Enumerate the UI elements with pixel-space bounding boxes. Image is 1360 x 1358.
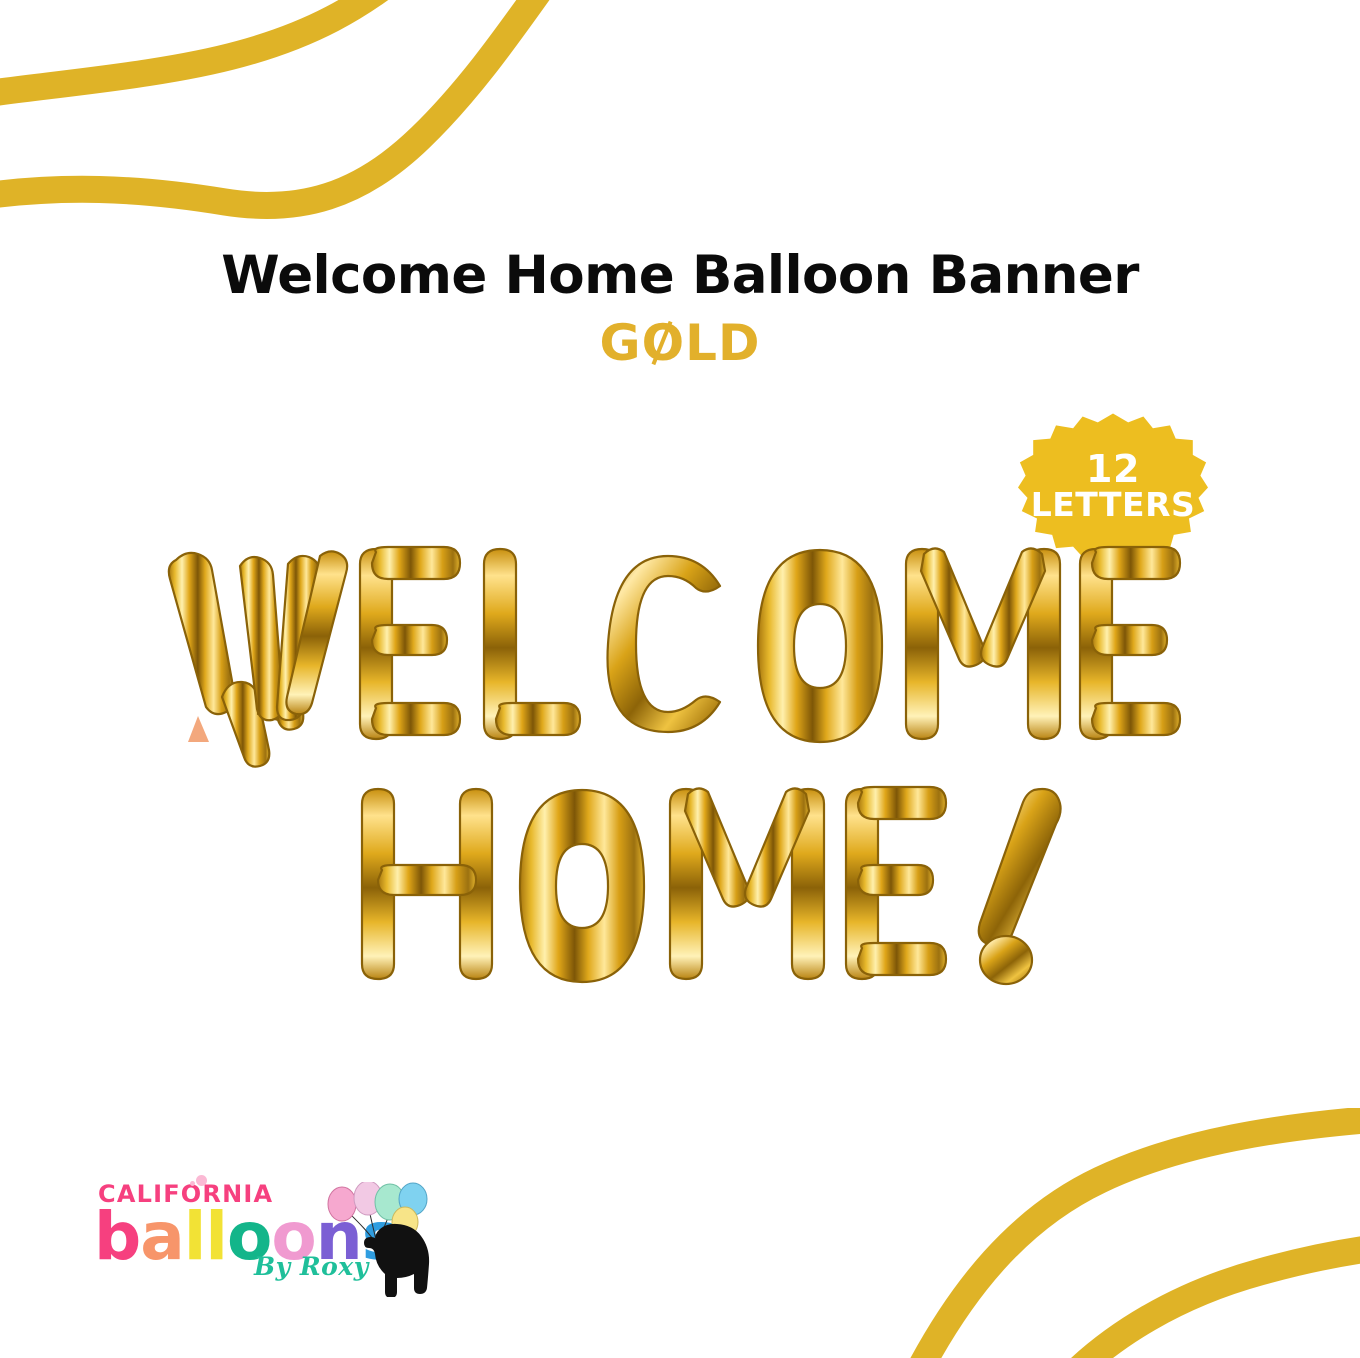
color-label-part-1: G [600, 314, 642, 372]
balloon-dot-icon [196, 1175, 207, 1186]
balloon-row-home [352, 782, 1078, 997]
balloon-banner-product [0, 520, 1360, 1020]
balloon-letter-C [592, 542, 742, 757]
brand-logo: CALIFORNIA balloons By Roxy [86, 1182, 446, 1302]
brand-letter-a: a [140, 1204, 184, 1270]
balloon-letter-E-1 [350, 542, 472, 757]
brand-letter-l2: l [205, 1204, 227, 1270]
ribbon-decoration-top-left [0, 0, 550, 238]
balloon-letter-M-1 [898, 542, 1068, 757]
balloon-letter-O-2 [506, 782, 658, 997]
badge-count: 12 [1086, 451, 1140, 487]
balloon-letter-L [474, 542, 590, 757]
color-label-part-2: LD [685, 314, 760, 372]
brand-letter-b: b [94, 1204, 140, 1270]
title-block: Welcome Home Balloon Banner GOLD [0, 248, 1360, 368]
elephant-with-balloons-icon [314, 1182, 444, 1297]
balloon-letter-E-3 [836, 782, 958, 997]
balloon-letter-E-2 [1070, 542, 1192, 757]
balloon-dot-small-icon [190, 1181, 195, 1186]
balloon-letter-W [170, 542, 348, 757]
ribbon-decoration-bottom-right [850, 1108, 1360, 1358]
brand-letter-l1: l [184, 1204, 206, 1270]
balloon-letter-O-1 [744, 542, 896, 757]
balloon-letter-exclamation [962, 782, 1078, 997]
color-label-slashed-o: O [642, 318, 686, 368]
badge-word: LETTERS [1031, 488, 1196, 521]
page-title: Welcome Home Balloon Banner [0, 248, 1360, 304]
color-variant-label: GOLD [0, 318, 1360, 368]
balloon-letter-H [352, 782, 502, 997]
balloon-letter-M-2 [662, 782, 832, 997]
product-image-canvas: Welcome Home Balloon Banner GOLD 12 LETT… [0, 0, 1360, 1358]
balloon-row-welcome [170, 542, 1192, 757]
